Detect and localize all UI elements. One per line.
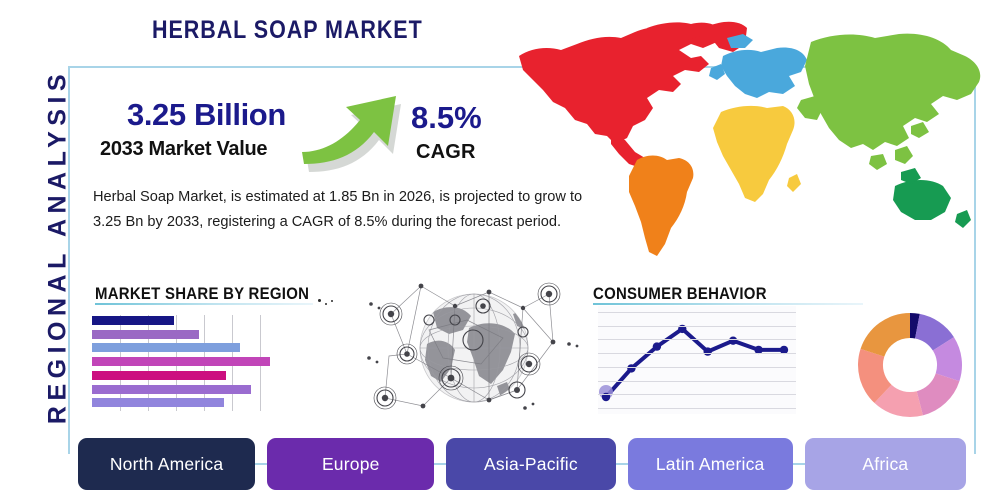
market-share-section-header: MARKET SHARE BY REGION	[95, 284, 309, 304]
market-value-figure: 3.25 Billion	[127, 97, 286, 133]
pill-connector	[793, 463, 805, 465]
globe-network-icon	[363, 272, 585, 424]
pill-connector	[616, 463, 628, 465]
segment-donut-chart	[856, 311, 964, 419]
cagr-figure: 8.5%	[411, 100, 482, 136]
region-pill-label: Asia-Pacific	[484, 454, 578, 475]
regional-analysis-side-label: REGIONAL ANALYSIS	[44, 57, 73, 437]
bar-chart-bar	[92, 398, 224, 407]
region-pill-north-america[interactable]: North America	[78, 438, 255, 490]
donut-segment	[861, 313, 910, 357]
world-map-icon	[495, 8, 995, 266]
region-pill-latin-america[interactable]: Latin America	[628, 438, 793, 490]
pill-connector	[255, 463, 267, 465]
market-share-header-dots	[318, 297, 336, 309]
infographic-root: REGIONAL ANALYSIS HERBAL SOAP MARKET 3.2…	[0, 0, 1000, 500]
consumer-behavior-line-chart	[598, 306, 796, 414]
bar-chart-bar	[92, 371, 226, 380]
bar-chart-bar	[92, 343, 240, 352]
bar-chart-bar	[92, 357, 270, 366]
region-pill-bar: North AmericaEuropeAsia-PacificLatin Ame…	[78, 438, 966, 490]
growth-arrow-icon	[302, 82, 417, 174]
region-pill-europe[interactable]: Europe	[267, 438, 434, 490]
bar-chart-bar	[92, 316, 174, 325]
region-pill-label: Latin America	[656, 454, 765, 475]
bar-chart-bar	[92, 385, 251, 394]
region-pill-africa[interactable]: Africa	[805, 438, 966, 490]
market-value-label: 2033 Market Value	[100, 138, 267, 161]
consumer-behavior-section-header: CONSUMER BEHAVIOR	[593, 284, 767, 304]
market-share-header-rule	[95, 303, 313, 305]
region-pill-label: Europe	[322, 454, 380, 475]
market-share-bar-chart	[92, 315, 288, 411]
cagr-label: CAGR	[416, 141, 476, 164]
page-title: HERBAL SOAP MARKET	[152, 16, 423, 45]
line-chart-gridlines	[598, 306, 796, 414]
region-pill-label: North America	[110, 454, 223, 475]
region-pill-asia-pacific[interactable]: Asia-Pacific	[446, 438, 615, 490]
region-pill-label: Africa	[862, 454, 908, 475]
consumer-behavior-header-rule	[593, 303, 863, 305]
donut-segment	[917, 373, 960, 415]
pill-connector	[434, 463, 446, 465]
bar-chart-bar	[92, 330, 199, 339]
